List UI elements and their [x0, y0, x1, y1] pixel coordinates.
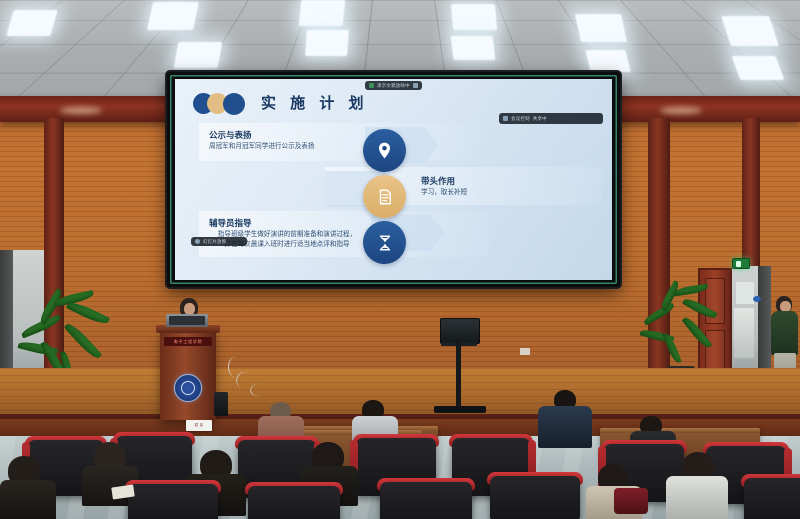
title-dot-3 [223, 93, 245, 115]
block-1-heading: 公示与表扬 [209, 129, 252, 141]
slide-title: 实 施 计 划 [261, 93, 369, 114]
block-2-body: 学习，取长补短 [421, 188, 571, 198]
attendee-torso [771, 311, 798, 355]
floor-speaker [214, 392, 228, 416]
seat [248, 486, 340, 519]
monitor-stand-pole [456, 340, 461, 410]
university-emblem [174, 374, 202, 402]
valance-reflection [60, 107, 102, 114]
palm-frond [682, 315, 712, 350]
title-decoration [193, 93, 259, 114]
sharing-status-label[interactable]: 共享中 [533, 116, 547, 122]
stage-floor-planks [0, 368, 800, 420]
seat [490, 476, 580, 519]
palm-frond [674, 284, 709, 297]
presentation-status-label: 演示文稿放映中 [377, 83, 410, 89]
ceiling-light [451, 36, 496, 60]
auditorium-photo: 实 施 计 划 [0, 0, 800, 519]
slideshow-icon [195, 239, 200, 244]
ceiling-light [6, 10, 57, 36]
list-item [0, 456, 56, 518]
meeting-icon [503, 116, 508, 121]
ceiling-light [575, 14, 627, 42]
projection-screen[interactable]: 实 施 计 划 [167, 72, 620, 287]
podium-banner: 电子工程学院 [164, 337, 212, 346]
name-card: 姓 名 [186, 420, 212, 431]
desk-surface [600, 428, 760, 433]
speaker-podium: 电子工程学院 [160, 330, 216, 420]
ceiling-light [585, 50, 630, 72]
chip-action-icon[interactable] [413, 83, 418, 88]
seat [744, 478, 800, 519]
ceiling-light [147, 2, 199, 30]
slideshow-chip[interactable]: 幻灯片放映 [191, 237, 247, 246]
seat [380, 482, 472, 519]
hourglass-icon [363, 221, 406, 264]
document-icon [363, 175, 406, 218]
name-card-text: 姓 名 [195, 423, 204, 428]
seat-back [380, 482, 472, 519]
presentation-status-chip[interactable]: 演示文稿放映中 [365, 81, 422, 90]
handbag [614, 488, 648, 514]
valance-reflection [660, 107, 702, 114]
list-item [666, 452, 728, 518]
hallway-cabinet [734, 308, 754, 358]
attendee-torso [0, 480, 56, 519]
door-placard [753, 296, 761, 302]
block-1-body: 周冠军和月冠军同学进行公示及表扬 [209, 142, 369, 152]
list-item [538, 390, 592, 446]
palm-frond [66, 299, 110, 327]
wall-outlet [520, 348, 530, 355]
podium-banner-text: 电子工程学院 [174, 339, 203, 345]
door-window [736, 282, 754, 304]
ceiling-light [451, 4, 497, 30]
ceiling-light [174, 42, 223, 68]
slideshow-label: 幻灯片放映 [203, 239, 226, 245]
seat-back [490, 476, 580, 519]
seat-back [248, 486, 340, 519]
laptop-screen [169, 316, 205, 325]
block-2-heading: 带头作用 [421, 175, 455, 187]
ceiling-light [305, 30, 349, 56]
ceiling-light [721, 16, 779, 46]
ceiling-light [299, 0, 346, 26]
monitor-stand-base [434, 406, 486, 413]
seat [128, 484, 218, 519]
ceiling-light [732, 56, 785, 80]
block-3-heading: 辅导员指导 [209, 217, 252, 229]
exit-sign-icon [732, 258, 750, 269]
potted-palm-right [640, 280, 722, 380]
meeting-toolbar[interactable]: 会议控制 共享中 [499, 113, 603, 124]
stage-floor [0, 368, 800, 420]
slide-surface: 实 施 计 划 [175, 79, 612, 280]
status-indicator-icon [369, 83, 374, 88]
seat-back [128, 484, 218, 519]
attendee-torso [538, 406, 592, 448]
meeting-control-label[interactable]: 会议控制 [511, 116, 530, 122]
map-pin-icon [363, 129, 406, 172]
palm-frond [642, 302, 676, 325]
attendee-torso [666, 476, 728, 519]
seat-back [744, 478, 800, 519]
palm-frond [64, 321, 102, 362]
podium-laptop[interactable] [166, 314, 208, 327]
